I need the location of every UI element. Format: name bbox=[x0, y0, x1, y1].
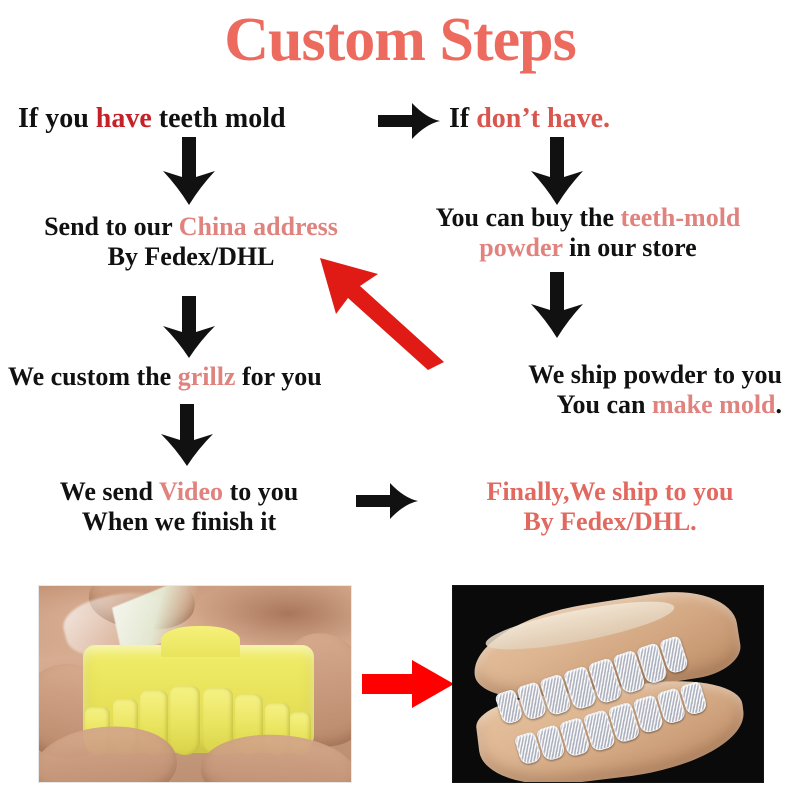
photo-diamond-grillz-content bbox=[453, 586, 763, 782]
step-6-ship-powder: We ship powder to you You can make mold. bbox=[404, 360, 782, 419]
photo-diamond-grillz bbox=[452, 585, 764, 783]
step-8-line-1: Finally,We ship to you bbox=[432, 477, 788, 507]
photo-teeth-mold bbox=[38, 585, 352, 783]
step-4-line2-highlight: powder bbox=[479, 233, 562, 262]
arrow-mold-to-grillz bbox=[362, 658, 454, 710]
mold-palate-hump bbox=[161, 626, 239, 656]
step-6-line2-highlight: make mold bbox=[652, 390, 776, 419]
step-6-line2-post: . bbox=[776, 390, 783, 419]
step-7-line1-post: to you bbox=[223, 477, 298, 506]
step-6-line2-pre: You can bbox=[557, 390, 652, 419]
step-1-have-mold: If you have teeth mold bbox=[18, 103, 286, 135]
step-2-highlight: don’t have. bbox=[476, 103, 610, 134]
step-7-line-1: We send Video to you bbox=[14, 477, 344, 507]
step-3-send-address: Send to our China address By Fedex/DHL bbox=[16, 212, 366, 271]
step-5-highlight: grillz bbox=[178, 362, 236, 391]
page-title: Custom Steps bbox=[0, 8, 800, 73]
photo-teeth-mold-content bbox=[39, 586, 351, 782]
step-6-line-1: We ship powder to you bbox=[404, 360, 782, 390]
step-3-line-1: Send to our China address bbox=[16, 212, 366, 242]
step-8-line-2: By Fedex/DHL. bbox=[432, 507, 788, 537]
step-6-line-2: You can make mold. bbox=[404, 390, 782, 420]
step-7-send-video: We send Video to you When we finish it bbox=[14, 477, 344, 536]
step-3-line1-highlight: China address bbox=[179, 212, 338, 241]
step-5-pre: We custom the bbox=[8, 362, 178, 391]
step-3-line1-pre: Send to our bbox=[44, 212, 179, 241]
step-2-pre: If bbox=[449, 103, 476, 134]
step-2-dont-have: If don’t have. bbox=[449, 103, 610, 135]
step-3-line-2: By Fedex/DHL bbox=[16, 242, 366, 272]
step-1-highlight: have bbox=[96, 103, 152, 134]
infographic-root: Custom Steps If you have teeth mold If d… bbox=[0, 0, 800, 800]
step-4-buy-powder: You can buy the teeth-mold powder in our… bbox=[388, 203, 788, 262]
arrow-step5-to-step7 bbox=[158, 404, 216, 466]
arrow-step7-to-step8 bbox=[356, 480, 418, 522]
step-1-pre: If you bbox=[18, 103, 96, 134]
step-4-line-1: You can buy the teeth-mold bbox=[388, 203, 788, 233]
step-4-line-2: powder in our store bbox=[388, 233, 788, 263]
step-7-line1-highlight: Video bbox=[159, 477, 223, 506]
arrow-step2-to-step4 bbox=[528, 137, 586, 205]
step-5-custom-grillz: We custom the grillz for you bbox=[8, 362, 322, 392]
step-7-line1-pre: We send bbox=[60, 477, 159, 506]
arrow-step3-to-step5 bbox=[160, 296, 218, 358]
step-8-finally-ship: Finally,We ship to you By Fedex/DHL. bbox=[432, 477, 788, 536]
step-1-post: teeth mold bbox=[152, 103, 286, 134]
step-5-post: for you bbox=[235, 362, 321, 391]
arrow-step6-to-step3 bbox=[316, 252, 446, 370]
arrow-step1-to-step3 bbox=[160, 137, 218, 205]
step-7-line-2: When we finish it bbox=[14, 507, 344, 537]
step-4-line1-highlight: teeth-mold bbox=[621, 203, 741, 232]
step-4-line2-post: in our store bbox=[563, 233, 697, 262]
step-4-line1-pre: You can buy the bbox=[436, 203, 621, 232]
arrow-step4-to-step6 bbox=[528, 272, 586, 338]
arrow-step1-to-step2 bbox=[378, 100, 440, 142]
